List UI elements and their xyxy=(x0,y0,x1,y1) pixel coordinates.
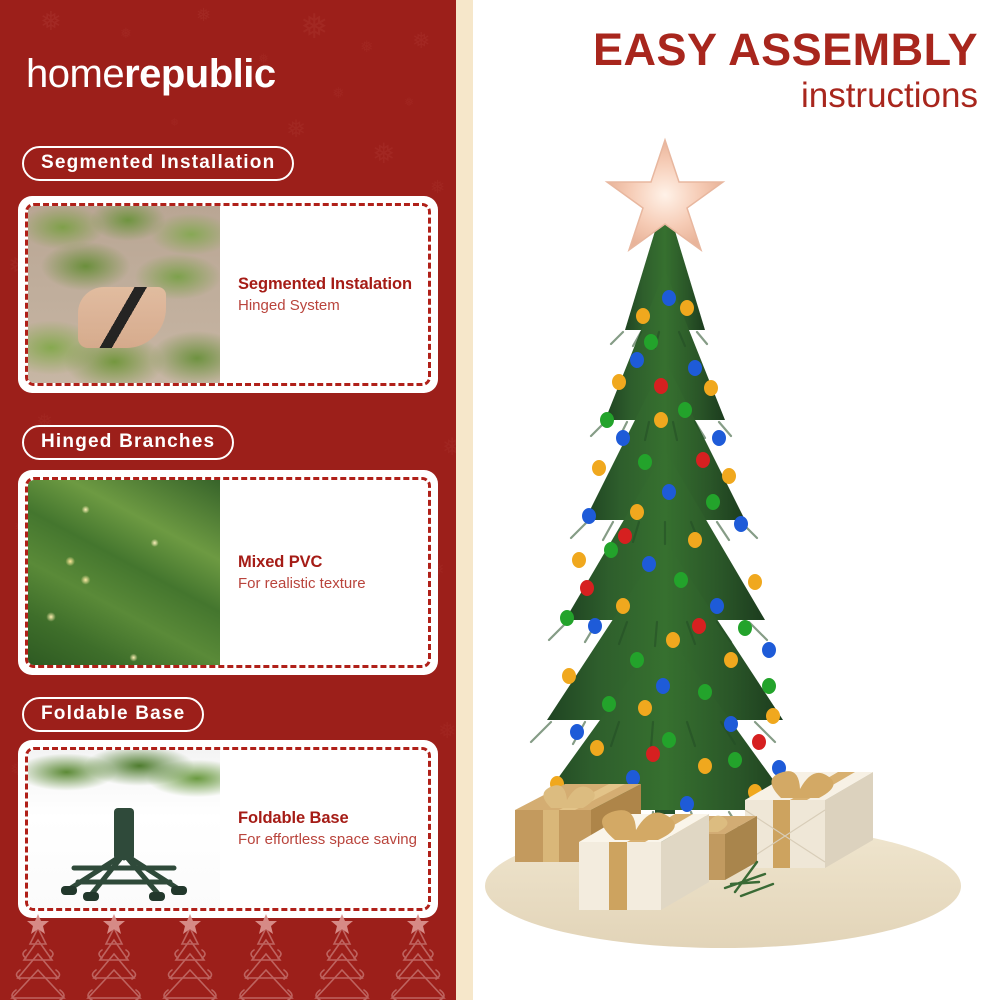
snowflake-icon: ❅ xyxy=(442,436,456,460)
feature-card-title: Segmented Instalation xyxy=(238,274,428,295)
snowflake-icon: ❅ xyxy=(430,178,445,196)
snowflake-icon: ❅ xyxy=(372,140,395,168)
tree-stand-feet xyxy=(61,886,187,901)
photo-hands-attaching-tree-segment xyxy=(28,206,220,383)
photo-metal-foldable-tree-stand xyxy=(28,750,220,908)
feature-card-title: Mixed PVC xyxy=(238,552,428,573)
christmas-tree-icon xyxy=(304,914,380,1000)
snowflake-icon: ❅ xyxy=(438,720,456,742)
feature-card-text: Segmented Instalation Hinged System xyxy=(220,206,428,383)
cream-divider-strip xyxy=(456,0,473,1000)
feature-card-foldable-base: Foldable Base For effortless space savin… xyxy=(18,740,438,918)
headline-primary: EASY ASSEMBLY xyxy=(593,26,978,73)
brand-logo: homerepublic xyxy=(26,52,276,97)
snowflake-icon: ❅ xyxy=(196,6,211,24)
product-scene xyxy=(473,120,1000,970)
pre-lit-christmas-tree-with-gifts xyxy=(473,120,1000,970)
feature-card-inner: Mixed PVC For realistic texture xyxy=(25,477,431,668)
tree-stand-illustration xyxy=(28,750,220,908)
tree-illustration xyxy=(473,120,1000,970)
feature-card-text: Mixed PVC For realistic texture xyxy=(220,480,428,665)
tree-foliage xyxy=(535,198,795,810)
feature-card-text: Foldable Base For effortless space savin… xyxy=(220,750,428,908)
snowflake-icon: ❅ xyxy=(170,118,179,129)
feature-card-segmented-installation: Segmented Instalation Hinged System xyxy=(18,196,438,393)
feature-card-hinged-branches: Mixed PVC For realistic texture xyxy=(18,470,438,675)
christmas-tree-icon xyxy=(228,914,304,1000)
snowflake-icon: ❅ xyxy=(120,26,132,40)
snowflake-icon: ❅ xyxy=(412,30,430,52)
logo-text-home: home xyxy=(26,52,124,96)
left-red-panel: ❅❅❅❅❅❅❅❅❅❅❅❅❅❅❅❅❅❅❅❅❅❅❅❅❅❅❅ homerepublic… xyxy=(0,0,456,1000)
tree-stand-pole xyxy=(114,808,134,860)
section-pill-segmented-installation: Segmented Installation xyxy=(22,146,294,181)
photo-lit-pine-branches-closeup xyxy=(28,480,220,665)
section-pill-foldable-base: Foldable Base xyxy=(22,697,204,732)
christmas-tree-icon xyxy=(76,914,152,1000)
snowflake-icon: ❅ xyxy=(332,86,345,101)
snowflake-icon: ❅ xyxy=(360,40,373,56)
feature-card-title: Foldable Base xyxy=(238,808,428,829)
page-title: EASY ASSEMBLY instructions xyxy=(593,26,978,117)
feature-card-subtitle: For effortless space saving xyxy=(238,830,428,850)
feature-card-inner: Segmented Instalation Hinged System xyxy=(25,203,431,386)
logo-text-republic: republic xyxy=(124,52,276,96)
snowflake-icon: ❅ xyxy=(40,8,62,34)
snowflake-icon: ❅ xyxy=(404,96,414,108)
snowflake-icon: ❅ xyxy=(286,118,306,142)
christmas-tree-icon xyxy=(380,914,456,1000)
christmas-tree-icon xyxy=(152,914,228,1000)
feature-card-subtitle: Hinged System xyxy=(238,296,428,316)
section-pill-hinged-branches: Hinged Branches xyxy=(22,425,234,460)
feature-card-subtitle: For realistic texture xyxy=(238,574,428,594)
snowflake-icon: ❅ xyxy=(300,10,329,44)
headline-secondary: instructions xyxy=(593,75,978,117)
infographic-page: ❅❅❅❅❅❅❅❅❅❅❅❅❅❅❅❅❅❅❅❅❅❅❅❅❅❅❅ homerepublic… xyxy=(0,0,1000,1000)
christmas-tree-icon xyxy=(0,914,76,1000)
feature-card-inner: Foldable Base For effortless space savin… xyxy=(25,747,431,911)
christmas-tree-border-pattern xyxy=(0,914,456,1000)
